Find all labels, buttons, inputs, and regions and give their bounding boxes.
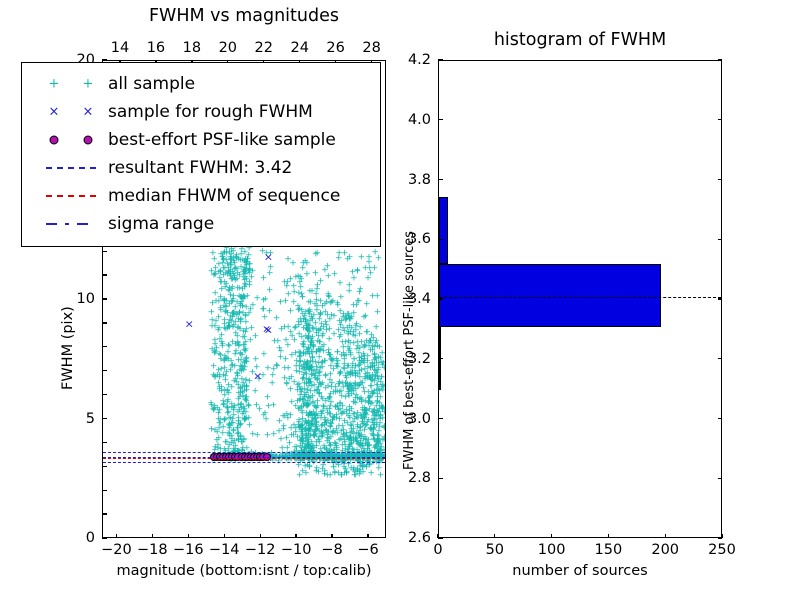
all-sample-point: +	[220, 256, 228, 265]
all-sample-point: +	[371, 421, 379, 430]
all-sample-point: +	[287, 307, 295, 316]
all-sample-point: +	[322, 416, 330, 425]
all-sample-point: +	[223, 250, 231, 259]
all-sample-point: +	[217, 352, 225, 361]
all-sample-point: +	[305, 380, 313, 389]
all-sample-point: +	[242, 312, 250, 321]
all-sample-point: +	[225, 409, 233, 418]
all-sample-point: +	[230, 292, 238, 301]
all-sample-point: +	[288, 431, 296, 440]
all-sample-point: +	[328, 379, 336, 388]
all-sample-point: +	[225, 287, 233, 296]
all-sample-point: +	[359, 463, 367, 472]
all-sample-point: +	[371, 351, 379, 360]
all-sample-point: +	[351, 410, 359, 419]
legend-item-3[interactable]: resultant FWHM: 3.42	[32, 154, 370, 182]
x-axis-tick-label-top: 16	[147, 40, 165, 56]
all-sample-point: +	[360, 344, 368, 353]
all-sample-point: +	[296, 424, 304, 433]
all-sample-point: +	[298, 407, 306, 416]
all-sample-point: +	[296, 273, 304, 282]
all-sample-point: +	[326, 411, 334, 420]
all-sample-point: +	[342, 352, 350, 361]
all-sample-point: +	[359, 416, 367, 425]
all-sample-point: +	[356, 361, 364, 370]
legend-marker-dashed-line	[32, 157, 108, 179]
all-sample-point: +	[317, 309, 325, 318]
y-axis-tick-left	[102, 346, 107, 347]
all-sample-point: +	[331, 413, 339, 422]
all-sample-point: +	[216, 416, 224, 425]
all-sample-point: +	[301, 379, 309, 388]
all-sample-point: +	[283, 282, 291, 291]
all-sample-point: +	[373, 370, 381, 379]
all-sample-point: +	[228, 298, 236, 307]
all-sample-point: +	[242, 329, 250, 338]
all-sample-point: +	[227, 313, 235, 322]
left-panel-title: FWHM vs magnitudes	[102, 6, 386, 26]
all-sample-point: +	[235, 436, 243, 445]
all-sample-point: +	[239, 302, 247, 311]
all-sample-point: +	[306, 306, 314, 315]
all-sample-point: +	[346, 436, 354, 445]
all-sample-point: +	[342, 379, 350, 388]
all-sample-point: +	[230, 378, 238, 387]
all-sample-point: +	[236, 309, 244, 318]
all-sample-point: +	[338, 410, 346, 419]
all-sample-point: +	[346, 315, 354, 324]
all-sample-point: +	[229, 296, 237, 305]
all-sample-point: +	[338, 351, 346, 360]
all-sample-point: +	[322, 373, 330, 382]
all-sample-point: +	[321, 420, 329, 429]
all-sample-point: +	[364, 446, 372, 455]
x-axis-tick-label-right-panel: 150	[595, 542, 623, 558]
all-sample-point: +	[309, 354, 317, 363]
all-sample-point: +	[230, 427, 238, 436]
all-sample-point: +	[224, 409, 232, 418]
all-sample-point: +	[317, 434, 325, 443]
all-sample-point: +	[360, 418, 368, 427]
all-sample-point: +	[315, 328, 323, 337]
all-sample-point: +	[286, 440, 294, 449]
all-sample-point: +	[321, 468, 329, 477]
all-sample-point: +	[296, 424, 304, 433]
all-sample-point: +	[344, 420, 352, 429]
all-sample-point: +	[339, 314, 347, 323]
y-axis-tick-right-panel	[438, 298, 443, 299]
all-sample-point: +	[312, 359, 320, 368]
all-sample-point: +	[235, 437, 243, 446]
all-sample-point: +	[240, 268, 248, 277]
all-sample-point: +	[246, 282, 254, 291]
all-sample-point: +	[224, 430, 232, 439]
all-sample-point: +	[337, 410, 345, 419]
all-sample-point: +	[301, 385, 309, 394]
all-sample-point: +	[298, 334, 306, 343]
all-sample-point: +	[291, 337, 299, 346]
all-sample-point: +	[349, 371, 357, 380]
all-sample-point: +	[302, 438, 310, 447]
all-sample-point: +	[306, 376, 314, 385]
all-sample-point: +	[298, 422, 306, 431]
histogram-median-line	[439, 297, 721, 298]
all-sample-point: +	[225, 414, 233, 423]
all-sample-point: +	[329, 358, 337, 367]
all-sample-point: +	[378, 358, 385, 367]
all-sample-point: +	[287, 276, 295, 285]
all-sample-point: +	[313, 364, 321, 373]
all-sample-point: +	[369, 376, 377, 385]
all-sample-point: +	[263, 250, 271, 259]
all-sample-point: +	[299, 436, 307, 445]
all-sample-point: +	[362, 422, 370, 431]
legend-item-1[interactable]: ××sample for rough FWHM	[32, 98, 370, 126]
all-sample-point: +	[359, 464, 367, 473]
all-sample-point: +	[251, 388, 259, 397]
y-axis-tick-left	[102, 418, 107, 419]
all-sample-point: +	[214, 442, 222, 451]
y-axis-tick-right-panel-mirror	[718, 418, 723, 419]
all-sample-point: +	[345, 391, 353, 400]
all-sample-point: +	[336, 379, 344, 388]
x-axis-tick-right-panel	[608, 534, 609, 539]
all-sample-point: +	[367, 346, 375, 355]
all-sample-point: +	[366, 392, 374, 401]
all-sample-point: +	[228, 257, 236, 266]
all-sample-point: +	[331, 439, 339, 448]
all-sample-point: +	[306, 363, 314, 372]
legend-item-5[interactable]: sigma range	[32, 210, 370, 238]
all-sample-point: +	[367, 337, 375, 346]
all-sample-point: +	[241, 293, 249, 302]
all-sample-point: +	[217, 306, 225, 315]
all-sample-point: +	[290, 421, 298, 430]
all-sample-point: +	[313, 439, 321, 448]
all-sample-point: +	[369, 419, 377, 428]
all-sample-point: +	[253, 401, 261, 410]
all-sample-point: +	[355, 430, 363, 439]
legend-item-4[interactable]: median FHWM of sequence	[32, 182, 370, 210]
all-sample-point: +	[241, 417, 249, 426]
all-sample-point: +	[305, 411, 313, 420]
all-sample-point: +	[363, 407, 371, 416]
all-sample-point: +	[217, 365, 225, 374]
all-sample-point: +	[364, 353, 372, 362]
all-sample-point: +	[230, 321, 238, 330]
all-sample-point: +	[349, 384, 357, 393]
all-sample-point: +	[355, 349, 363, 358]
all-sample-point: +	[235, 342, 243, 351]
all-sample-point: +	[313, 404, 321, 413]
all-sample-point: +	[297, 276, 305, 285]
all-sample-point: +	[332, 403, 340, 412]
rough-fwhm-sample-point: ×	[264, 251, 273, 262]
all-sample-point: +	[227, 440, 235, 449]
all-sample-point: +	[240, 328, 248, 337]
all-sample-point: +	[227, 358, 235, 367]
x-axis-tick-label-bottom: −20	[101, 542, 132, 558]
all-sample-point: +	[246, 337, 254, 346]
all-sample-point: +	[331, 440, 339, 449]
all-sample-point: +	[324, 382, 332, 391]
y-axis-tick-left	[102, 537, 107, 538]
all-sample-point: +	[353, 302, 361, 311]
all-sample-point: +	[349, 360, 357, 369]
reference-line-dashdot	[103, 452, 385, 453]
all-sample-point: +	[224, 356, 232, 365]
all-sample-point: +	[352, 435, 360, 444]
x-axis-tick-label-right-panel: 250	[708, 542, 736, 558]
plus-marker: +	[83, 78, 94, 91]
all-sample-point: +	[315, 427, 323, 436]
legend-item-0[interactable]: ++all sample	[32, 70, 370, 98]
all-sample-point: +	[377, 411, 385, 420]
all-sample-point: +	[361, 410, 369, 419]
all-sample-point: +	[237, 319, 245, 328]
all-sample-point: +	[303, 360, 311, 369]
y-axis-tick-label-right-panel: 4.0	[408, 112, 431, 128]
all-sample-point: +	[231, 275, 239, 284]
all-sample-point: +	[305, 365, 313, 374]
all-sample-point: +	[293, 358, 301, 367]
all-sample-point: +	[306, 410, 314, 419]
all-sample-point: +	[218, 253, 226, 262]
all-sample-point: +	[246, 279, 254, 288]
all-sample-point: +	[370, 390, 378, 399]
all-sample-point: +	[335, 326, 343, 335]
all-sample-point: +	[241, 405, 249, 414]
all-sample-point: +	[331, 270, 339, 279]
dashed-line	[46, 167, 96, 169]
all-sample-point: +	[357, 412, 365, 421]
all-sample-point: +	[348, 313, 356, 322]
all-sample-point: +	[283, 379, 291, 388]
all-sample-point: +	[253, 294, 261, 303]
all-sample-point: +	[218, 388, 226, 397]
y-axis-tick-label-left: 0	[86, 530, 95, 546]
all-sample-point: +	[358, 339, 366, 348]
all-sample-point: +	[308, 439, 316, 448]
all-sample-point: +	[316, 380, 324, 389]
all-sample-point: +	[313, 410, 321, 419]
all-sample-point: +	[298, 389, 306, 398]
all-sample-point: +	[378, 405, 385, 414]
all-sample-point: +	[367, 269, 375, 278]
all-sample-point: +	[222, 373, 230, 382]
all-sample-point: +	[350, 329, 358, 338]
all-sample-point: +	[344, 389, 352, 398]
all-sample-point: +	[356, 382, 364, 391]
all-sample-point: +	[306, 323, 314, 332]
all-sample-point: +	[239, 309, 247, 318]
all-sample-point: +	[240, 436, 248, 445]
all-sample-point: +	[225, 422, 233, 431]
all-sample-point: +	[360, 412, 368, 421]
all-sample-point: +	[237, 357, 245, 366]
all-sample-point: +	[276, 344, 284, 353]
y-axis-tick-label-left: 5	[86, 411, 95, 427]
all-sample-point: +	[334, 364, 342, 373]
all-sample-point: +	[223, 368, 231, 377]
all-sample-point: +	[379, 405, 385, 414]
all-sample-point: +	[233, 275, 241, 284]
all-sample-point: +	[243, 292, 251, 301]
all-sample-point: +	[306, 366, 314, 375]
all-sample-point: +	[281, 365, 289, 374]
all-sample-point: +	[282, 297, 290, 306]
all-sample-point: +	[317, 297, 325, 306]
all-sample-point: +	[312, 250, 320, 259]
all-sample-point: +	[380, 382, 385, 391]
all-sample-point: +	[303, 397, 311, 406]
all-sample-point: +	[236, 367, 244, 376]
all-sample-point: +	[302, 317, 310, 326]
all-sample-point: +	[329, 429, 337, 438]
all-sample-point: +	[315, 353, 323, 362]
all-sample-point: +	[245, 266, 253, 275]
y-axis-tick-right-panel	[438, 358, 443, 359]
all-sample-point: +	[338, 392, 346, 401]
legend-item-2[interactable]: best-effort PSF-like sample	[32, 126, 370, 154]
all-sample-point: +	[354, 268, 362, 277]
all-sample-point: +	[220, 271, 228, 280]
all-sample-point: +	[330, 414, 338, 423]
all-sample-point: +	[264, 432, 272, 441]
all-sample-point: +	[359, 407, 367, 416]
all-sample-point: +	[245, 402, 253, 411]
all-sample-point: +	[291, 443, 299, 452]
all-sample-point: +	[287, 424, 295, 433]
all-sample-point: +	[369, 390, 377, 399]
all-sample-point: +	[356, 424, 364, 433]
all-sample-point: +	[359, 357, 367, 366]
all-sample-point: +	[330, 388, 338, 397]
all-sample-point: +	[295, 421, 303, 430]
all-sample-point: +	[207, 399, 215, 408]
all-sample-point: +	[353, 346, 361, 355]
all-sample-point: +	[232, 347, 240, 356]
all-sample-point: +	[227, 262, 235, 271]
all-sample-point: +	[226, 253, 234, 262]
all-sample-point: +	[229, 247, 237, 256]
all-sample-point: +	[309, 333, 317, 342]
all-sample-point: +	[373, 387, 381, 396]
all-sample-point: +	[221, 265, 229, 274]
all-sample-point: +	[380, 447, 385, 456]
all-sample-point: +	[319, 429, 327, 438]
all-sample-point: +	[256, 406, 264, 415]
all-sample-point: +	[356, 379, 364, 388]
all-sample-point: +	[237, 264, 245, 273]
all-sample-point: +	[300, 351, 308, 360]
all-sample-point: +	[332, 355, 340, 364]
all-sample-point: +	[219, 342, 227, 351]
all-sample-point: +	[264, 394, 272, 403]
all-sample-point: +	[298, 435, 306, 444]
y-axis-tick-left	[102, 394, 107, 395]
all-sample-point: +	[322, 427, 330, 436]
all-sample-point: +	[373, 360, 381, 369]
all-sample-point: +	[301, 394, 309, 403]
all-sample-point: +	[223, 398, 231, 407]
all-sample-point: +	[259, 248, 267, 257]
all-sample-point: +	[333, 363, 341, 372]
all-sample-point: +	[329, 414, 337, 423]
all-sample-point: +	[209, 406, 217, 415]
all-sample-point: +	[357, 412, 365, 421]
all-sample-point: +	[298, 290, 306, 299]
all-sample-point: +	[241, 273, 249, 282]
all-sample-point: +	[342, 465, 350, 474]
all-sample-point: +	[361, 408, 369, 417]
all-sample-point: +	[222, 325, 230, 334]
all-sample-point: +	[334, 357, 342, 366]
all-sample-point: +	[369, 346, 377, 355]
all-sample-point: +	[298, 429, 306, 438]
all-sample-point: +	[236, 406, 244, 415]
all-sample-point: +	[352, 394, 360, 403]
all-sample-point: +	[311, 402, 319, 411]
all-sample-point: +	[242, 268, 250, 277]
all-sample-point: +	[296, 471, 304, 480]
all-sample-point: +	[238, 246, 246, 255]
all-sample-point: +	[327, 423, 335, 432]
all-sample-point: +	[235, 436, 243, 445]
all-sample-point: +	[238, 366, 246, 375]
all-sample-point: +	[345, 322, 353, 331]
x-axis-tick-bottom	[331, 534, 332, 539]
all-sample-point: +	[304, 327, 312, 336]
all-sample-point: +	[346, 346, 354, 355]
all-sample-point: +	[235, 285, 243, 294]
all-sample-point: +	[240, 267, 248, 276]
all-sample-point: +	[249, 369, 257, 378]
all-sample-point: +	[341, 418, 349, 427]
all-sample-point: +	[220, 416, 228, 425]
all-sample-point: +	[299, 438, 307, 447]
all-sample-point: +	[364, 363, 372, 372]
all-sample-point: +	[227, 415, 235, 424]
all-sample-point: +	[365, 259, 373, 268]
all-sample-point: +	[354, 466, 362, 475]
all-sample-point: +	[240, 415, 248, 424]
all-sample-point: +	[299, 438, 307, 447]
all-sample-point: +	[358, 431, 366, 440]
all-sample-point: +	[349, 446, 357, 455]
all-sample-point: +	[302, 426, 310, 435]
all-sample-point: +	[246, 260, 254, 269]
all-sample-point: +	[342, 379, 350, 388]
all-sample-point: +	[371, 410, 379, 419]
all-sample-point: +	[312, 291, 320, 300]
all-sample-point: +	[266, 287, 274, 296]
all-sample-point: +	[303, 358, 311, 367]
y-axis-tick-left	[102, 322, 107, 323]
legend-item-label: median FHWM of sequence	[108, 186, 340, 206]
all-sample-point: +	[367, 377, 375, 386]
all-sample-point: +	[367, 374, 375, 383]
all-sample-point: +	[319, 466, 327, 475]
all-sample-point: +	[348, 391, 356, 400]
all-sample-point: +	[215, 415, 223, 424]
all-sample-point: +	[374, 309, 382, 318]
all-sample-point: +	[283, 435, 291, 444]
all-sample-point: +	[300, 349, 308, 358]
all-sample-point: +	[353, 439, 361, 448]
all-sample-point: +	[336, 416, 344, 425]
all-sample-point: +	[301, 426, 309, 435]
